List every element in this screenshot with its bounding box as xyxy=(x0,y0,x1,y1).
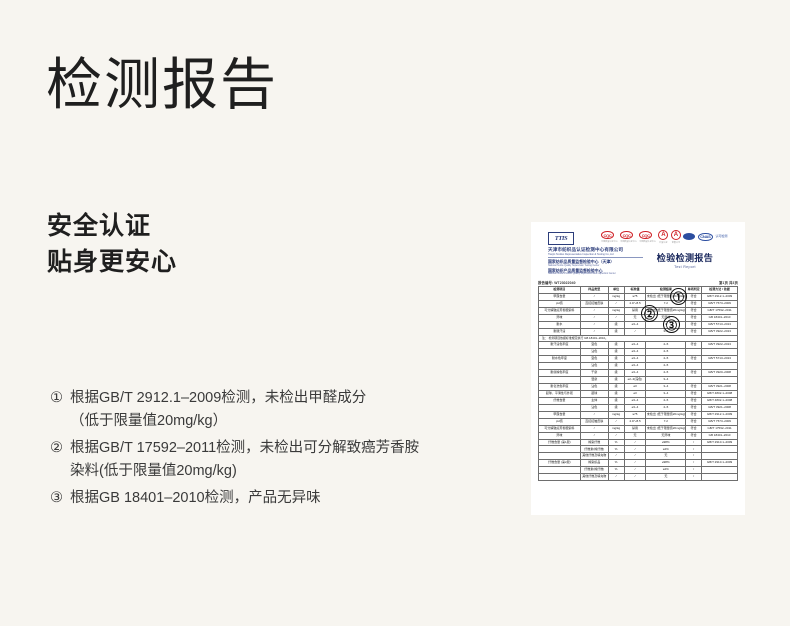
table-note: 注： 检测项目依据标准规定执行 GB 18401–2010。 xyxy=(539,335,738,342)
table-row: 异味 / / 无 无异味 符合 GB 18401–2010 xyxy=(539,314,738,321)
th-unit: 单位 xyxy=(608,287,624,294)
claim-item: ③ 根据GB 18401–2010检测，产品无异味 xyxy=(50,487,480,510)
th-item: 检测项目 xyxy=(539,287,581,294)
org-name-en: Tianjin Textiles Representative Inspecti… xyxy=(548,253,643,256)
claim-marker-2: ② xyxy=(50,437,70,460)
table-row: 异味 / / 无 无异味 符合 GB 18401–2010 xyxy=(539,432,738,439)
cnas-badge-icon: CNAS xyxy=(698,233,713,242)
cal-badge-icon: A 审查认可 xyxy=(671,230,681,244)
table-row: 耐水 / 级 ≥3–4 4 符合 GB/T 5713–2013 xyxy=(539,321,738,328)
table-row: 纤维含量 (第2层) 棉染织品 % / ≥98% / GB/T 2910.1–2… xyxy=(539,460,738,467)
report-table-wrap: 检测项目 样品类型 单位 标准值 检测结果 单项判定 检测方法 / 依据 甲醛含… xyxy=(531,286,745,481)
claim-text-2: 根据GB/T 17592–2011检测，未检出可分解致癌芳香胺 染料(低于限量值… xyxy=(70,437,480,484)
table-row: 纤维含量 (第1层) 棉染纤维 % / ≥98% / GB/T 2910.1–2… xyxy=(539,439,738,446)
table-row: 其他纤维及填充物 / / 无 / xyxy=(539,453,738,460)
table-row: 纤维含量 主体 级 ≥3–4 4–5 符合 GB/T 4802.1–2008 xyxy=(539,397,738,404)
claim-text-3: 根据GB 18401–2010检测，产品无异味 xyxy=(70,487,480,510)
table-row: 起球、平滑性与外观 起球 级 ≥3 3–4 符合 GB/T 4802.1–200… xyxy=(539,390,738,397)
table-row: pH值 直接接触皮肤 / 4.0～8.5 7.2 符合 GB/T 7573–20… xyxy=(539,300,738,307)
claim-item: ① 根据GB/T 2912.1–2009检测，未检出甲醛成分 （低于限量值20m… xyxy=(50,387,480,434)
table-row: 纤维素(棉纤维) % / ≤2% / xyxy=(539,467,738,474)
report-page-indicator: 第1页 共3页 xyxy=(719,280,738,285)
table-row: 耐水色牢度 变色 级 ≥3–4 4–5 符合 GB/T 5713–2013 xyxy=(539,356,738,363)
table-header-row: 检测项目 样品类型 单位 标准值 检测结果 单项判定 检测方法 / 依据 xyxy=(539,287,738,294)
report-title-cn: 检验检测报告 xyxy=(655,251,715,264)
report-title-en: Test Report xyxy=(655,265,715,269)
th-standard: 标准值 xyxy=(624,287,646,294)
table-row: 湿摩 级 ≥2–3(深色) 3–4 xyxy=(539,377,738,384)
subtitle-block: 安全认证 贴身更安心 xyxy=(47,208,177,281)
blue-seal-icon xyxy=(683,233,695,240)
table-row: 可分解致癌芳香胺染料 / mg/kg 禁用 未检出 (低于限量值20mg/kg)… xyxy=(539,425,738,432)
claim-item: ② 根据GB/T 17592–2011检测，未检出可分解致癌芳香胺 染料(低于限… xyxy=(50,437,480,484)
test-report-document: TTIS 天津市纺织品认证检测中心有限公司 Tianjin Textiles R… xyxy=(531,222,745,515)
org-sub-en-2: National Textile Product Quality Supervi… xyxy=(548,273,643,276)
report-table-body: 甲醛含量 / mg/kg ≤75 未检出 (低于限量值20mg/kg) 符合 G… xyxy=(539,293,738,480)
th-result: 检测结果 xyxy=(646,287,686,294)
report-results-table: 检测项目 样品类型 单位 标准值 检测结果 单项判定 检测方法 / 依据 甲醛含… xyxy=(538,286,738,481)
report-meta-row: 报告编号: WT23022040 第1页 共3页 xyxy=(531,280,745,285)
claims-list: ① 根据GB/T 2912.1–2009检测，未检出甲醛成分 （低于限量值20m… xyxy=(50,387,480,513)
table-row: 纤维素(棉纤维) % / ≤2% / xyxy=(539,446,738,453)
cqc-badge-icon: CQC 中国质量认证中心 xyxy=(639,231,656,243)
table-row: 耐酸汗渍 / 级 / 3–4 符合 GB/T 3922–2013 xyxy=(539,328,738,335)
table-row: 耐皂洗色牢度 沾色 级 ≥3 3–4 符合 GB/T 3921–2008 xyxy=(539,384,738,391)
th-method: 检测方法 / 依据 xyxy=(702,287,738,294)
table-row: 沾色 级 ≥3–4 4–5 xyxy=(539,363,738,370)
cqc-badge-icon: CQC 中国质量认证中心 xyxy=(601,231,618,243)
table-row: 甲醛含量 / mg/kg ≤75 未检出 (低于限量值20mg/kg) 符合 G… xyxy=(539,293,738,300)
subtitle-line-1: 安全认证 xyxy=(47,208,177,244)
certification-badges: CQC 中国质量认证中心 CQC 中国质量认证中心 CQC 中国质量认证中心 A… xyxy=(601,230,727,244)
subtitle-line-2: 贴身更安心 xyxy=(47,244,177,280)
org-sub-block: 国家纺织品质量监督检验中心（天津） National Textile Quali… xyxy=(548,257,643,275)
table-row: 耐摩擦色牢度 干摩 级 ≥3–4 4–5 符合 GB/T 3920–2008 xyxy=(539,370,738,377)
table-row: 耐汗渍色牢度 变色 级 ≥3–4 4–5 符合 GB/T 3922–2013 xyxy=(539,342,738,349)
page-root: { "page": { "background_color": "#f7f5f0… xyxy=(0,0,790,626)
table-row: 沾色 级 ≥3–4 4–5 xyxy=(539,349,738,356)
claim-marker-3: ③ xyxy=(50,487,70,510)
table-row: pH值 直接接触皮肤 / 4.0～8.5 7.2 符合 GB/T 7573–20… xyxy=(539,418,738,425)
claim-text-1: 根据GB/T 2912.1–2009检测，未检出甲醛成分 （低于限量值20mg/… xyxy=(70,387,480,434)
report-number: 报告编号: WT23022040 xyxy=(538,280,576,285)
table-row: 甲醛含量 / mg/kg ≤75 未检出 (低于限量值20mg/kg) 符合 G… xyxy=(539,411,738,418)
table-row: 其他纤维及填充物 / / 无 / xyxy=(539,474,738,481)
page-title: 检测报告 xyxy=(46,54,278,117)
th-verdict: 单项判定 xyxy=(686,287,702,294)
table-row: 可分解致癌芳香胺染料 / mg/kg 禁用 未检出 (低于限量值20mg/kg)… xyxy=(539,307,738,314)
report-header: TTIS 天津市纺织品认证检测中心有限公司 Tianjin Textiles R… xyxy=(531,222,745,274)
table-note-row: 注： 检测项目依据标准规定执行 GB 18401–2010。 xyxy=(539,335,738,342)
ttis-logo-icon: TTIS xyxy=(548,232,574,245)
cma-badge-icon: A 计量认证 xyxy=(658,230,668,244)
cnas-side-text: 认可检测 xyxy=(715,235,727,238)
th-type: 样品类型 xyxy=(580,287,608,294)
claim-marker-1: ① xyxy=(50,387,70,410)
cqc-badge-icon: CQC 中国质量认证中心 xyxy=(620,231,637,243)
table-row: 沾色 级 ≥3–4 4–5 符合 GB/T 3921–2008 xyxy=(539,404,738,411)
report-title-block: 检验检测报告 Test Report xyxy=(655,251,715,269)
